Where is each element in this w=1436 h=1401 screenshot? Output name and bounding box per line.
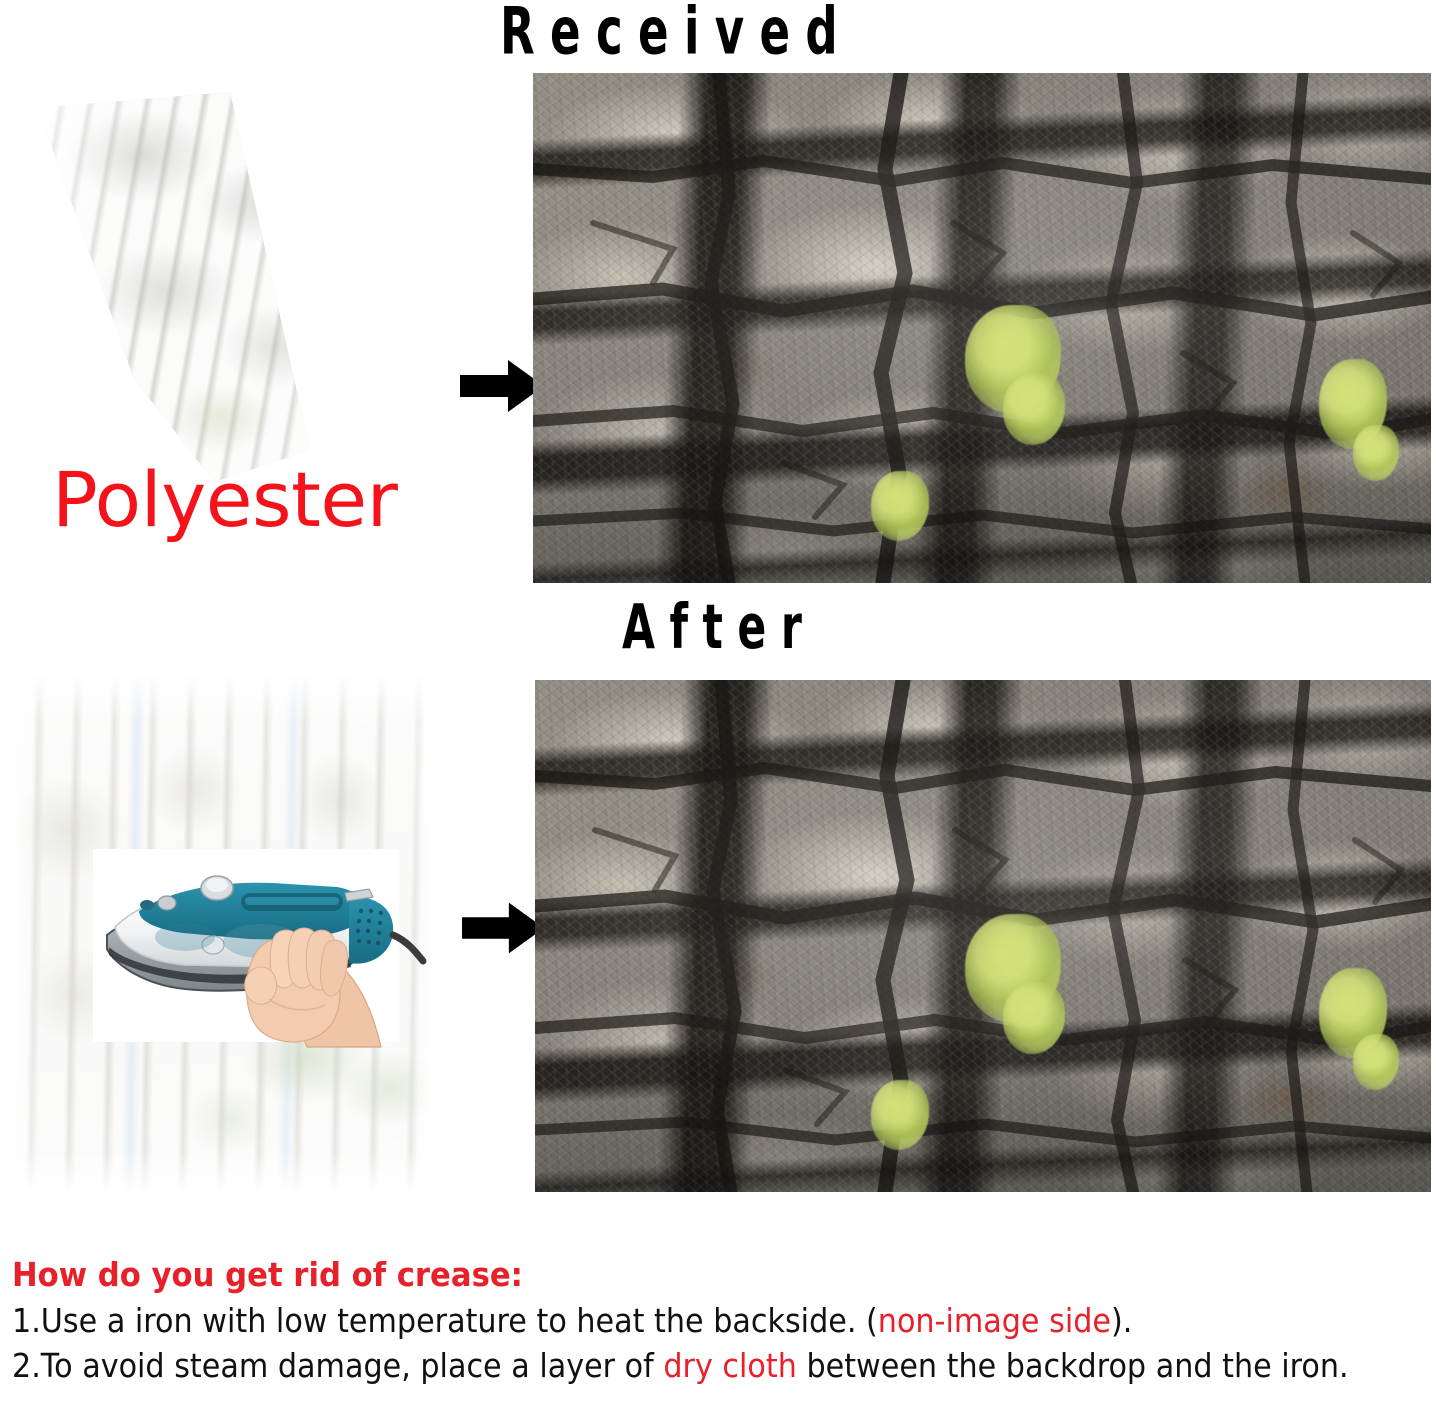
ironing-demo-image xyxy=(93,849,399,1042)
received-backdrop-photo xyxy=(533,73,1431,583)
instructions-block: How do you get rid of crease: 1.Use a ir… xyxy=(12,1252,1436,1388)
instruction-line-2-highlight: dry cloth xyxy=(663,1346,796,1385)
arrow-right-icon xyxy=(460,358,544,414)
instruction-line-1-text-a: 1.Use a iron with low temperature to hea… xyxy=(12,1301,878,1340)
iron-steam-button xyxy=(158,896,176,910)
folded-fabric-image xyxy=(14,84,414,482)
after-section-title: After xyxy=(622,593,816,664)
polyester-material-label: Polyester xyxy=(52,458,397,542)
instruction-line-2-text-a: 2.To avoid steam damage, place a layer o… xyxy=(12,1346,663,1385)
folded-fabric-highlight xyxy=(14,84,414,482)
crease-instructions-heading: How do you get rid of crease: xyxy=(12,1252,1336,1298)
steam-iron-icon xyxy=(93,849,399,1042)
instruction-line-1-highlight: non-image side xyxy=(878,1301,1111,1340)
instruction-line-2-text-b: between the backdrop and the iron. xyxy=(797,1346,1349,1385)
arrow-right-icon xyxy=(462,900,544,956)
after-backdrop-photo xyxy=(535,680,1431,1192)
instruction-line-1-text-b: ). xyxy=(1111,1301,1132,1340)
received-section-title: Received xyxy=(500,0,853,68)
instruction-line-2: 2.To avoid steam damage, place a layer o… xyxy=(12,1343,1315,1388)
instruction-line-1: 1.Use a iron with low temperature to hea… xyxy=(12,1298,1315,1343)
